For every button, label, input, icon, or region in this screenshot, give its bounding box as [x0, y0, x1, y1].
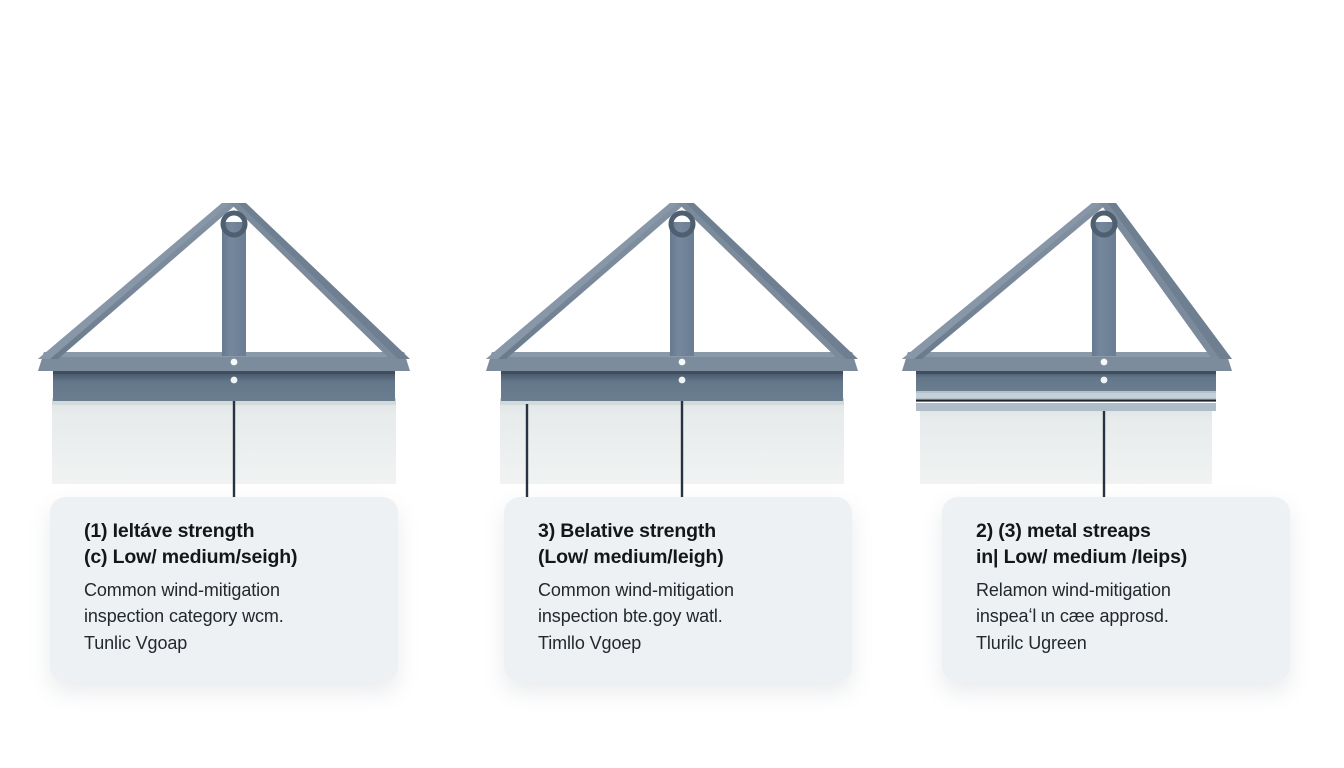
rafter-right-highlight [1100, 203, 1220, 359]
fastener-dot [679, 359, 686, 366]
wall-body [500, 398, 844, 484]
caption-body: Common wind-mitigation inspection catego… [84, 577, 372, 656]
caption-title: 3) Belative strength (Low/ medium/Ieigh) [538, 519, 826, 570]
king-post [670, 222, 694, 356]
truss-illustration-2 [448, 0, 896, 520]
wall-body [52, 398, 396, 484]
metal-strap-band-lower [916, 403, 1216, 411]
rafter-right-highlight [678, 203, 846, 359]
truss-panel-3: 2) (3) metal streaps in| Low/ medium /Ie… [896, 0, 1344, 768]
diagram-canvas: (1) Ieltáve strength (c) Low/ medium/sei… [0, 0, 1344, 768]
king-post [222, 222, 246, 356]
fastener-dot [1101, 359, 1108, 366]
fastener-dot [231, 377, 238, 384]
rafter-right-highlight [230, 203, 398, 359]
wall-body [920, 406, 1212, 484]
caption-body: Common wind-mitigation inspection bte.go… [538, 577, 826, 656]
king-post [1092, 222, 1116, 356]
truss-panel-1: (1) Ieltáve strength (c) Low/ medium/sei… [0, 0, 448, 768]
caption-title: (1) Ieltáve strength (c) Low/ medium/sei… [84, 519, 372, 570]
caption-card-3[interactable]: 2) (3) metal streaps in| Low/ medium /Ie… [942, 497, 1290, 682]
caption-card-2[interactable]: 3) Belative strength (Low/ medium/Ieigh)… [504, 497, 852, 682]
fastener-dot [679, 377, 686, 384]
fastener-dot [231, 359, 238, 366]
rafter-left-highlight [486, 203, 678, 359]
truss-panel-2: 3) Belative strength (Low/ medium/Ieigh)… [448, 0, 896, 768]
caption-body: Relamon wind-mitigation inspeaʻl ɩn cæe … [976, 577, 1264, 656]
truss-illustration-1 [0, 0, 448, 520]
bottom-chord-highlight [906, 352, 1228, 357]
metal-strap-band-upper-light [916, 393, 1216, 398]
truss-illustration-3 [896, 0, 1344, 520]
fastener-dot [1101, 377, 1108, 384]
rafter-left-highlight [902, 203, 1100, 359]
caption-card-1[interactable]: (1) Ieltáve strength (c) Low/ medium/sei… [50, 497, 398, 682]
rafter-left-highlight [38, 203, 230, 359]
caption-title: 2) (3) metal streaps in| Low/ medium /Ie… [976, 519, 1264, 570]
